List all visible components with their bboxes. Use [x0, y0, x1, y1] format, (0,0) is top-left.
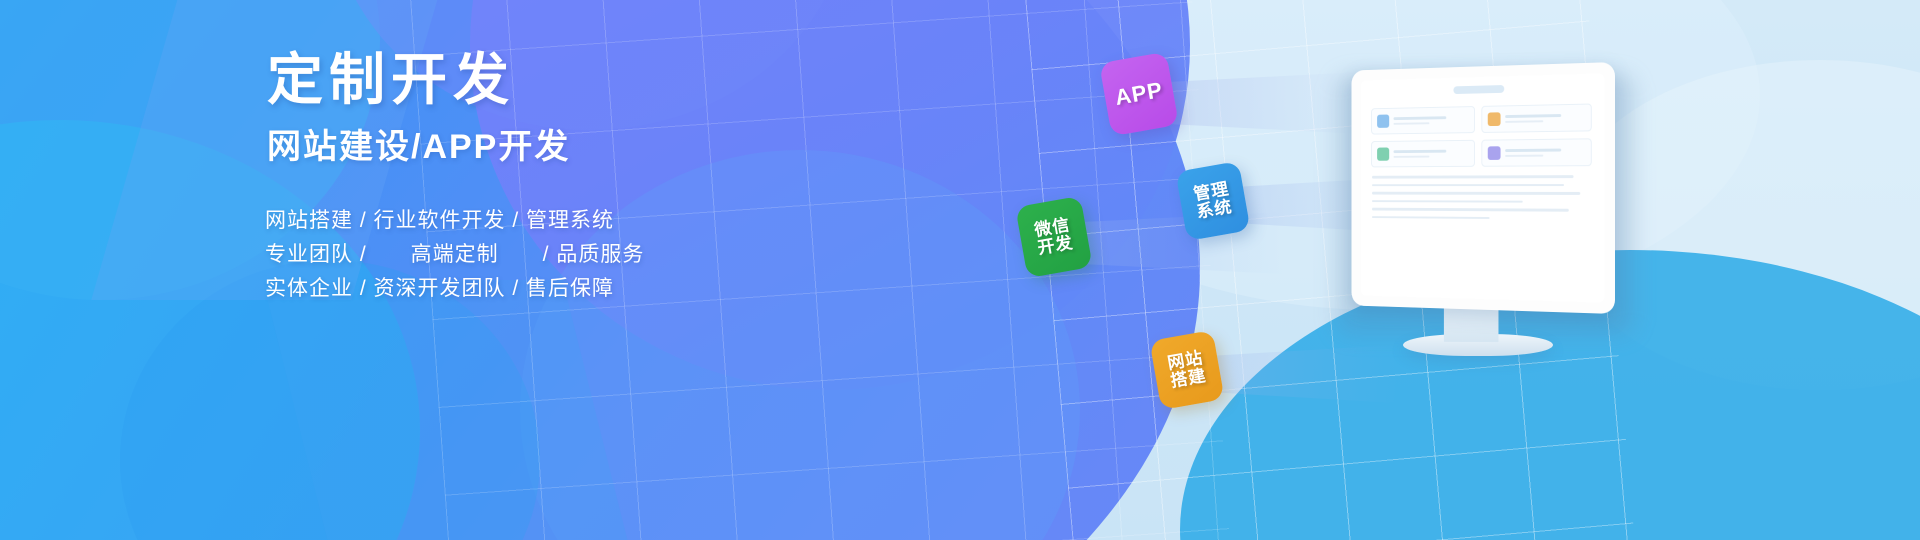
monitor-bezel: [1352, 62, 1615, 314]
screen-card: [1371, 106, 1475, 135]
tile-wx-line2: 开发: [1036, 234, 1075, 258]
feature-line-1: 网站搭建 / 行业软件开发 / 管理系统: [265, 204, 785, 238]
monitor-screen: [1361, 73, 1604, 302]
feature-line-2: 专业团队 / 高端定制 / 品质服务: [265, 238, 785, 272]
tile-wechat-development[interactable]: 微信 开发: [1015, 196, 1093, 278]
feature-line-3: 实体企业 / 资深开发团队 / 售后保障: [265, 272, 785, 306]
screen-card-icon: [1377, 147, 1389, 160]
tile-app[interactable]: APP: [1099, 52, 1179, 137]
tile-management-system[interactable]: 管理 系统: [1175, 161, 1250, 241]
screen-card-text: [1394, 150, 1469, 158]
page-title: 定制开发: [267, 52, 785, 108]
tile-website-building[interactable]: 网站 搭建: [1149, 330, 1224, 410]
screen-body-text: [1361, 166, 1604, 220]
tile-mgmt-line2: 系统: [1195, 198, 1234, 222]
screen-card: [1371, 140, 1475, 168]
tile-web-line2: 搭建: [1169, 367, 1208, 391]
screen-card-text: [1394, 116, 1469, 125]
screen-card-grid: [1361, 99, 1604, 167]
tile-app-line1: APP: [1113, 78, 1165, 109]
screen-header-pill: [1453, 85, 1504, 94]
screen-card-text: [1505, 148, 1585, 157]
monitor-illustration: [1325, 62, 1625, 332]
headline-block: 定制开发 网站建设/APP开发 网站搭建 / 行业软件开发 / 管理系统 专业团…: [265, 52, 785, 306]
page-subtitle: 网站建设/APP开发: [267, 130, 785, 164]
screen-card: [1481, 138, 1591, 166]
screen-card-text: [1505, 114, 1585, 123]
promo-banner: 定制开发 网站建设/APP开发 网站搭建 / 行业软件开发 / 管理系统 专业团…: [0, 0, 1920, 540]
screen-card: [1481, 104, 1591, 133]
screen-card-icon: [1488, 146, 1501, 160]
screen-card-icon: [1488, 112, 1501, 126]
screen-card-icon: [1377, 115, 1389, 128]
